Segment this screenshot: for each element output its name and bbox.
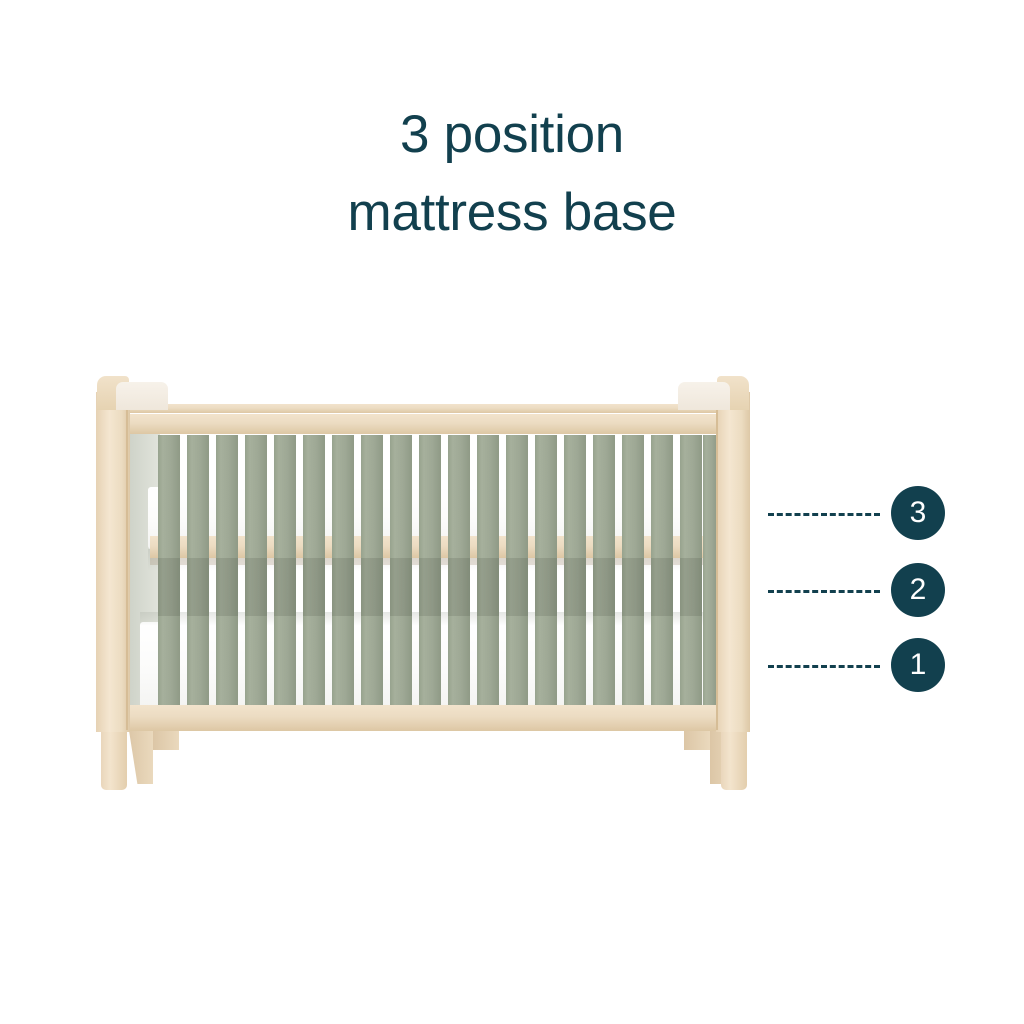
callout-line-2 (768, 590, 880, 593)
crib-slat-shade (245, 558, 267, 616)
callout-badge-2[interactable]: 2 (891, 563, 945, 617)
callout-badge-1-label: 1 (910, 650, 927, 680)
crib-slat-shade (593, 558, 615, 616)
crib-top-rail (96, 414, 750, 434)
crib-slat-shade (187, 558, 209, 616)
crib-slat-shade (216, 558, 238, 616)
crib-slat-shade (303, 558, 325, 616)
callout-badge-2-label: 2 (910, 575, 927, 605)
crib-slat-shade (419, 558, 441, 616)
crib-post-left-edge (126, 400, 128, 730)
crib-slat-shade (680, 558, 702, 616)
crib-post-left (96, 392, 130, 732)
callout-line-3 (768, 513, 880, 516)
callout-badge-1[interactable]: 1 (891, 638, 945, 692)
crib-slat (703, 435, 717, 717)
crib-slat-shade (361, 558, 383, 616)
crib-slat-shade (535, 558, 557, 616)
crib-slat-shade (506, 558, 528, 616)
callout-line-1 (768, 665, 880, 668)
crib-post-right (716, 392, 750, 732)
crib-slat-shade (448, 558, 470, 616)
crib-slat-shade (622, 558, 644, 616)
crib-slat-shade (390, 558, 412, 616)
callout-badge-3[interactable]: 3 (891, 486, 945, 540)
crib-illustration (0, 0, 1024, 1024)
crib-slat-shade (274, 558, 296, 616)
crib-slat-shade (332, 558, 354, 616)
crib-slat-shade (477, 558, 499, 616)
crib-top-rail-upper (96, 404, 750, 413)
crib-slat-shade (158, 558, 180, 616)
crib-post-right-edge (716, 400, 718, 730)
crib-crest-panel-right (678, 382, 730, 410)
crib-slat-shade (564, 558, 586, 616)
crib-crest-panel-left (116, 382, 168, 410)
callout-badge-3-label: 3 (910, 498, 927, 528)
crib-bottom-rail (96, 705, 750, 731)
crib-slat-shade (651, 558, 673, 616)
